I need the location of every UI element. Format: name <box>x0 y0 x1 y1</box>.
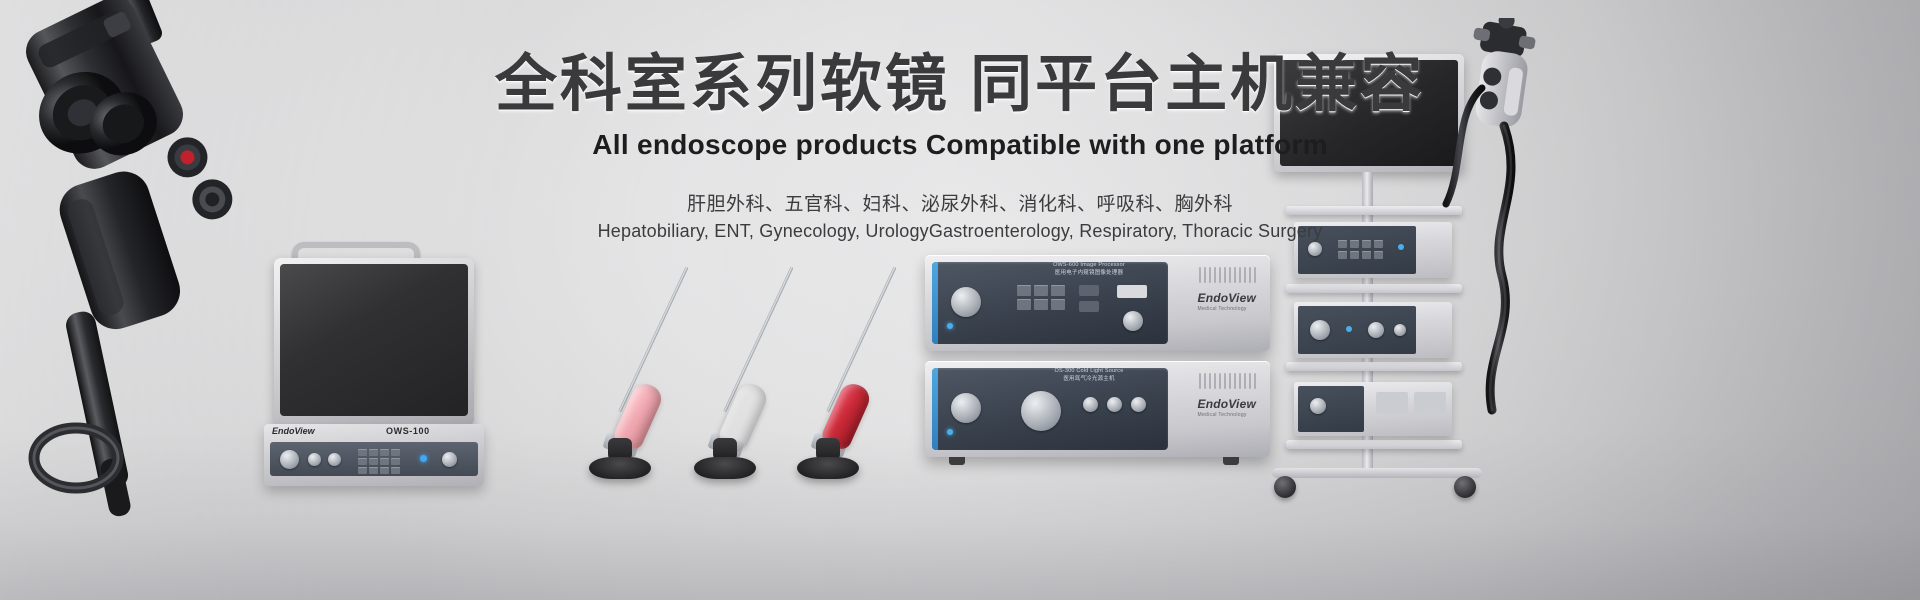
cart-device-3-screen <box>1376 392 1408 414</box>
top-unit-accent-bar <box>932 262 938 344</box>
bottom-unit-button-3 <box>1131 397 1146 412</box>
console-monitor-unit: EndoView OWS-100 <box>236 236 496 486</box>
console-knob-2 <box>308 453 321 466</box>
banner-headline-cn: 全科室系列软镜 同平台主机兼容 <box>0 48 1920 121</box>
endoscopy-product-banner: EndoView OWS-100 OWS-600 Image Processor <box>0 0 1920 600</box>
cart-device-3 <box>1294 382 1452 436</box>
top-unit-panel-title: OWS-600 Image Processor 医用电子内窥镜图像处理器 <box>1021 261 1157 278</box>
bottom-unit-button-2 <box>1107 397 1122 412</box>
banner-copy-block: 全科室系列软镜 同平台主机兼容 All endoscope products C… <box>0 48 1920 242</box>
bottom-unit-title-en: OS-300 Cold Light Source <box>1021 367 1157 375</box>
top-unit-port-1 <box>1079 285 1099 296</box>
console-brand-label: EndoView <box>272 426 315 436</box>
cart-base-frame <box>1272 468 1482 478</box>
top-unit-usb-port <box>1117 285 1147 298</box>
top-unit-main-knob <box>951 287 981 317</box>
bottom-unit-button-1 <box>1083 397 1098 412</box>
bottom-unit-dial <box>1021 391 1061 431</box>
surgical-instrument-3 <box>718 252 878 487</box>
console-model-label: OWS-100 <box>386 426 430 436</box>
instrument-stand-base <box>797 457 859 479</box>
cart-shelf-4 <box>1286 440 1462 449</box>
cart-device-3-panel <box>1298 386 1364 432</box>
top-unit-brand: EndoView <box>1198 291 1257 305</box>
console-power-led <box>420 455 427 462</box>
cart-device-2 <box>1294 302 1452 358</box>
console-display <box>280 264 468 416</box>
cart-device-2-dial <box>1368 322 1384 338</box>
bottom-unit-subbrand: Medical Technology <box>1198 412 1257 418</box>
departments-list-cn: 肝胆外科、五官科、妇科、泌尿外科、消化科、呼吸科、胸外科 <box>0 189 1920 216</box>
banner-subhead-en: All endoscope products Compatible with o… <box>0 129 1920 161</box>
cart-device-2-led <box>1346 326 1352 332</box>
departments-list-en: Hepatobiliary, ENT, Gynecology, UrologyG… <box>0 221 1920 242</box>
top-unit-title-cn: 医用电子内窥镜图像处理器 <box>1021 269 1157 277</box>
cart-device-1-led <box>1398 244 1404 250</box>
top-unit-vents <box>1199 267 1256 283</box>
bottom-unit-main-knob <box>951 393 981 423</box>
bottom-unit-title-cn: 医用氙气冷光源主机 <box>1021 375 1157 383</box>
bottom-unit-led <box>947 429 953 435</box>
unit-foot-left <box>949 457 965 465</box>
bottom-unit-branding: EndoView Medical Technology <box>1198 397 1257 418</box>
unit-foot-right <box>1223 457 1239 465</box>
top-unit-subbrand: Medical Technology <box>1198 306 1257 312</box>
top-unit-port-2 <box>1079 301 1099 312</box>
cart-device-1-knob <box>1308 242 1322 256</box>
top-unit-branding: EndoView Medical Technology <box>1198 291 1257 312</box>
console-keypad <box>358 449 400 474</box>
console-knob-3 <box>328 453 341 466</box>
cart-device-2-button <box>1394 324 1406 336</box>
top-unit-keypad <box>1017 285 1065 310</box>
processor-unit-top: OWS-600 Image Processor 医用电子内窥镜图像处理器 End… <box>925 255 1270 351</box>
cart-device-1-keypad <box>1338 240 1383 259</box>
console-control-strip <box>270 442 478 476</box>
top-unit-side-knob <box>1123 311 1143 331</box>
cart-caster-right <box>1454 476 1476 498</box>
top-unit-title-en: OWS-600 Image Processor <box>1021 261 1157 269</box>
console-knob-1 <box>280 450 299 469</box>
cart-device-3-knob <box>1310 398 1326 414</box>
bottom-unit-accent-bar <box>932 368 938 450</box>
processor-unit-bottom: OS-300 Cold Light Source 医用氙气冷光源主机 EndoV… <box>925 361 1270 457</box>
bottom-unit-panel-title: OS-300 Cold Light Source 医用氙气冷光源主机 <box>1021 367 1157 384</box>
console-screen-frame <box>274 258 474 426</box>
cart-caster-left <box>1274 476 1296 498</box>
processor-unit-stack: OWS-600 Image Processor 医用电子内窥镜图像处理器 End… <box>925 255 1270 460</box>
console-knob-4 <box>442 452 457 467</box>
cart-device-2-knob <box>1310 320 1330 340</box>
top-unit-led <box>947 323 953 329</box>
bottom-unit-brand: EndoView <box>1198 397 1257 411</box>
bottom-unit-vents <box>1199 373 1256 389</box>
